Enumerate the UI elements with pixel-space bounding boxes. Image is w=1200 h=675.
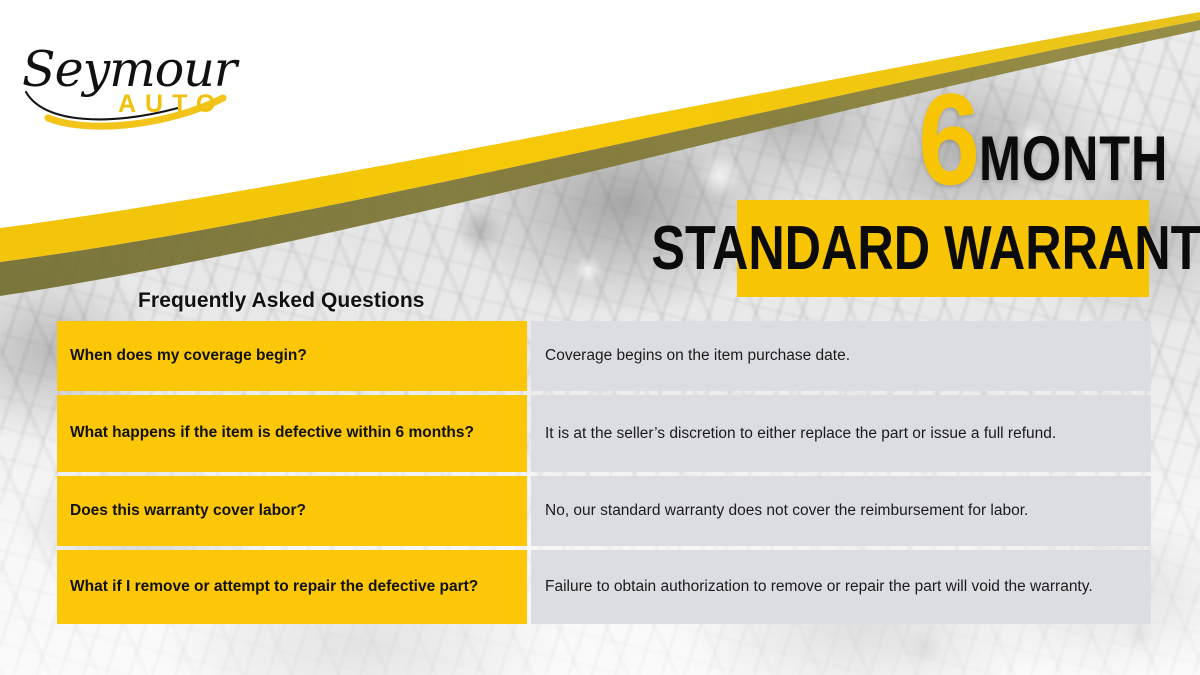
warranty-slide: Seymour AUTO 6 MONTH STANDARD WARRANTY F… (0, 0, 1200, 675)
faq-question-cell: What happens if the item is defective wi… (57, 395, 527, 472)
faq-question-text: What happens if the item is defective wi… (70, 423, 474, 443)
faq-heading: Frequently Asked Questions (138, 289, 425, 313)
faq-answer-text: No, our standard warranty does not cover… (545, 500, 1138, 521)
logo-subwordmark: AUTO (118, 90, 224, 118)
faq-answer-cell: Coverage begins on the item purchase dat… (531, 321, 1151, 391)
faq-question-text: What if I remove or attempt to repair th… (70, 577, 478, 597)
duration-unit: MONTH (979, 131, 1168, 190)
table-row: When does my coverage begin? Coverage be… (57, 321, 1151, 391)
faq-answer-text: Failure to obtain authorization to remov… (545, 576, 1138, 597)
faq-question-text: When does my coverage begin? (70, 346, 307, 366)
faq-question-cell: Does this warranty cover labor? (57, 476, 527, 546)
duration-number: 6 (918, 89, 978, 190)
faq-answer-text: Coverage begins on the item purchase dat… (545, 345, 1138, 366)
table-row: What happens if the item is defective wi… (57, 395, 1151, 472)
faq-answer-cell: It is at the seller’s discretion to eith… (531, 395, 1151, 472)
faq-question-cell: What if I remove or attempt to repair th… (57, 550, 527, 624)
table-row: Does this warranty cover labor? No, our … (57, 476, 1151, 546)
faq-answer-cell: No, our standard warranty does not cover… (531, 476, 1151, 546)
faq-question-text: Does this warranty cover labor? (70, 501, 306, 521)
table-row: What if I remove or attempt to repair th… (57, 550, 1151, 624)
faq-question-cell: When does my coverage begin? (57, 321, 527, 391)
standard-warranty-banner: STANDARD WARRANTY (737, 200, 1149, 297)
seymour-auto-logo: Seymour AUTO (18, 22, 248, 137)
faq-answer-cell: Failure to obtain authorization to remov… (531, 550, 1151, 624)
standard-warranty-label: STANDARD WARRANTY (651, 213, 1200, 285)
faq-table: When does my coverage begin? Coverage be… (57, 321, 1151, 624)
warranty-duration-headline: 6 MONTH (918, 78, 1190, 190)
faq-answer-text: It is at the seller’s discretion to eith… (545, 423, 1138, 444)
